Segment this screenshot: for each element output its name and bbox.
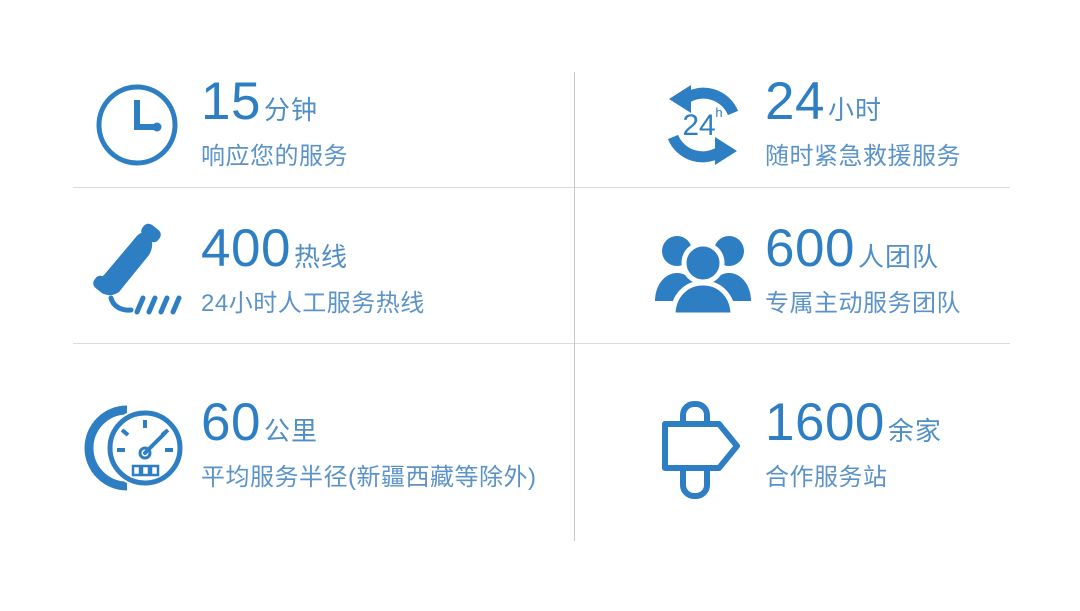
stat-unit: 热线 <box>294 244 348 270</box>
stat-text-emergency-rescue: 24 小时 随时紧急救援服务 <box>765 75 1060 173</box>
stat-text-response-time: 15 分钟 响应您的服务 <box>201 75 573 173</box>
stat-text-hotline: 400 热线 24小时人工服务热线 <box>201 222 573 320</box>
stat-text-service-radius: 60 公里 平均服务半径(新疆西藏等除外) <box>201 396 573 494</box>
stat-description: 随时紧急救援服务 <box>765 141 1060 173</box>
signpost-icon <box>640 398 765 500</box>
stat-card-service-team: 600 人团队 专属主动服务团队 <box>640 200 1060 343</box>
stat-description: 专属主动服务团队 <box>765 288 1060 320</box>
stat-unit: 人团队 <box>858 244 939 270</box>
stat-description: 平均服务半径(新疆西藏等除外) <box>201 462 551 494</box>
icon-badge-number: 24 <box>682 109 715 142</box>
stat-text-partner-stations: 1600 余家 合作服务站 <box>765 396 1060 494</box>
stat-card-partner-stations: 1600 余家 合作服务站 <box>640 356 1060 541</box>
stat-headline: 400 热线 <box>201 222 573 275</box>
horizontal-divider-1 <box>73 187 1010 188</box>
stat-headline: 600 人团队 <box>765 222 1060 275</box>
stat-unit: 公里 <box>264 418 318 444</box>
icon-badge-superscript: h <box>715 105 722 120</box>
stat-headline: 15 分钟 <box>201 75 573 128</box>
stat-number: 60 <box>201 396 261 449</box>
stat-card-response-time: 15 分钟 响应您的服务 <box>73 62 573 187</box>
24h-cycle-icon: 24 h <box>640 77 765 173</box>
stat-unit: 余家 <box>888 418 942 444</box>
stat-unit: 小时 <box>828 97 882 123</box>
clock-icon <box>73 79 201 171</box>
people-group-icon <box>640 229 765 315</box>
stat-number: 24 <box>765 75 825 128</box>
stat-unit: 分钟 <box>264 97 318 123</box>
stat-text-service-team: 600 人团队 专属主动服务团队 <box>765 222 1060 320</box>
horizontal-divider-2 <box>73 343 1010 344</box>
stat-description: 响应您的服务 <box>201 141 573 173</box>
stat-number: 400 <box>201 222 291 275</box>
stat-card-emergency-rescue: 24 h 24 小时 随时紧急救援服务 <box>640 62 1060 187</box>
stat-card-hotline: 400 热线 24小时人工服务热线 <box>73 200 573 343</box>
stat-number: 1600 <box>765 396 885 449</box>
stat-number: 600 <box>765 222 855 275</box>
stat-headline: 1600 余家 <box>765 396 1060 449</box>
service-stats-infographic: 15 分钟 响应您的服务 24 h 24 小时 <box>0 0 1080 611</box>
telephone-icon <box>73 224 201 320</box>
stat-headline: 24 小时 <box>765 75 1060 128</box>
speedometer-icon <box>73 400 201 498</box>
stat-headline: 60 公里 <box>201 396 573 449</box>
stat-number: 15 <box>201 75 261 128</box>
stat-card-service-radius: 60 公里 平均服务半径(新疆西藏等除外) <box>73 356 573 541</box>
stat-description: 合作服务站 <box>765 462 1060 494</box>
stat-description: 24小时人工服务热线 <box>201 288 573 320</box>
vertical-divider <box>574 72 575 541</box>
